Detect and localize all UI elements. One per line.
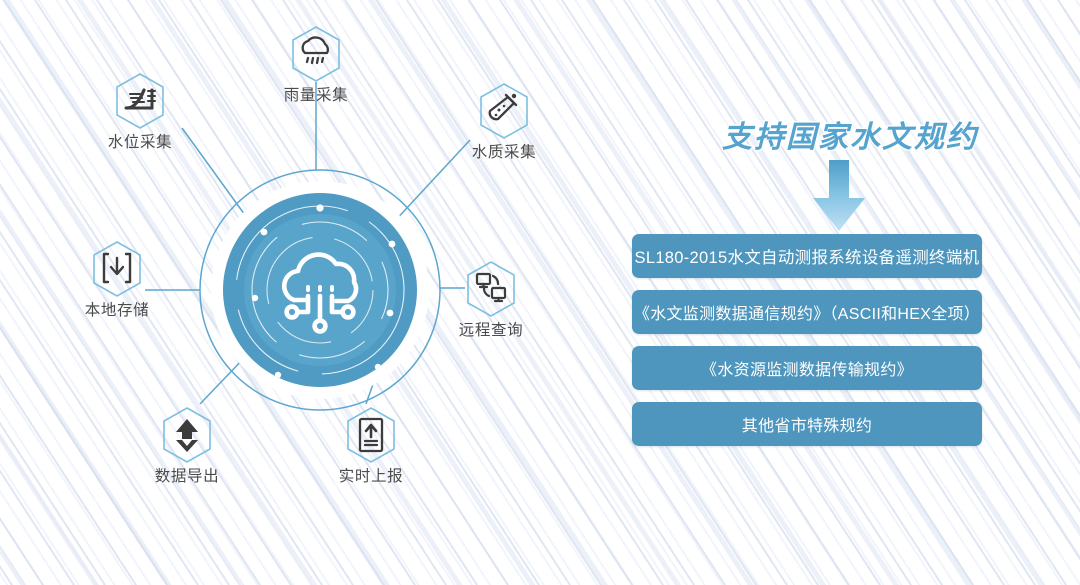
node-label: 数据导出 xyxy=(127,468,247,487)
list-item[interactable]: SL180-2015水文自动测报系统设备遥测终端机 xyxy=(632,234,982,278)
realtime-report-hexagon xyxy=(345,406,397,464)
list-item-label: 其他省市特殊规约 xyxy=(742,412,872,436)
data-export-hexagon xyxy=(161,406,213,464)
list-item-label: 《水资源监测数据传输规约》 xyxy=(701,356,913,380)
down-arrow-icon xyxy=(809,158,869,234)
hydrology-hub-diagram: 水位采集 雨量采集 xyxy=(0,0,620,585)
remote-monitors-icon xyxy=(477,274,505,301)
water-level-hexagon xyxy=(114,72,166,130)
node-label: 实时上报 xyxy=(311,468,431,487)
node-label: 远程查询 xyxy=(431,322,551,341)
local-storage-hexagon xyxy=(91,240,143,298)
remote-query-hexagon xyxy=(465,260,517,318)
document-upload-icon xyxy=(360,419,382,451)
node-water-level[interactable]: 水位采集 xyxy=(80,72,200,153)
list-item[interactable]: 《水文监测数据通信规约》（ASCII和HEX全项） xyxy=(632,290,982,334)
water-quality-hexagon xyxy=(478,82,530,140)
rain-cloud-icon xyxy=(303,37,328,63)
node-local-storage[interactable]: 本地存储 xyxy=(57,240,177,321)
list-item[interactable]: 其他省市特殊规约 xyxy=(632,402,982,446)
protocol-support-panel: 支持国家水文规约 SL180-2015水文自动测报系统设备遥测终端机 《水文监测… xyxy=(620,0,1080,585)
download-tray-icon xyxy=(104,254,130,282)
node-water-quality[interactable]: 水质采集 xyxy=(444,82,564,163)
page-title: 支持国家水文规约 xyxy=(620,112,1080,156)
list-item[interactable]: 《水资源监测数据传输规约》 xyxy=(632,346,982,390)
rainfall-hexagon xyxy=(290,25,342,83)
node-label: 水质采集 xyxy=(444,144,564,163)
upload-export-icon xyxy=(176,419,198,452)
node-label: 水位采集 xyxy=(80,134,200,153)
node-rainfall[interactable]: 雨量采集 xyxy=(256,25,376,106)
node-data-export[interactable]: 数据导出 xyxy=(127,406,247,487)
water-level-gauge-icon xyxy=(126,90,155,108)
protocol-list: SL180-2015水文自动测报系统设备遥测终端机 《水文监测数据通信规约》（A… xyxy=(632,234,982,458)
node-realtime-report[interactable]: 实时上报 xyxy=(311,406,431,487)
flask-icon xyxy=(490,94,516,119)
list-item-label: SL180-2015水文自动测报系统设备遥测终端机 xyxy=(635,244,980,268)
node-label: 本地存储 xyxy=(57,302,177,321)
node-remote-query[interactable]: 远程查询 xyxy=(431,260,551,341)
node-label: 雨量采集 xyxy=(256,87,376,106)
list-item-label: 《水文监测数据通信规约》（ASCII和HEX全项） xyxy=(634,300,980,324)
